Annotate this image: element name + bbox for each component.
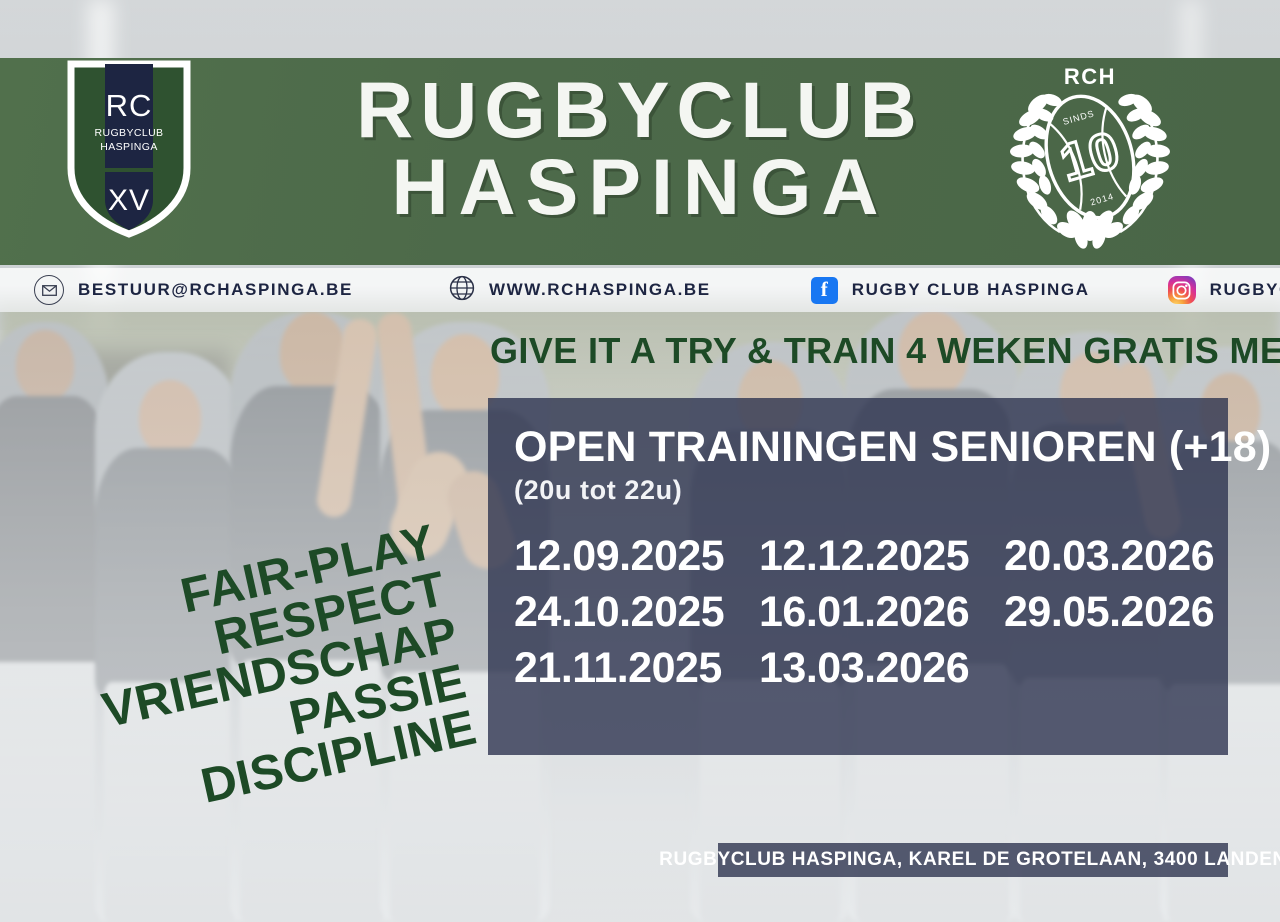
training-date: 29.05.2026 xyxy=(1004,588,1234,636)
contact-facebook-label: RUGBY CLUB HASPINGA xyxy=(852,280,1090,300)
club-shield-logo: RC RUGBYCLUB HASPINGA XV xyxy=(67,60,191,238)
title-line-1: RUGBYCLUB xyxy=(290,72,990,149)
svg-text:RC: RC xyxy=(106,88,153,123)
svg-text:SINDS: SINDS xyxy=(1062,108,1096,127)
training-date: 24.10.2025 xyxy=(514,588,759,636)
svg-text:RCH: RCH xyxy=(1064,64,1116,89)
laurel-anniversary-icon: RCH xyxy=(1000,58,1180,256)
svg-text:HASPINGA: HASPINGA xyxy=(100,141,157,153)
training-date: 12.12.2025 xyxy=(759,532,1004,580)
address-bar: RUGBYCLUB HASPINGA, KAREL DE GROTELAAN, … xyxy=(718,843,1228,877)
address-label: RUGBYCLUB HASPINGA, KAREL DE GROTELAAN, … xyxy=(659,849,1280,871)
training-info-panel: OPEN TRAININGEN SENIOREN (+18) (20u tot … xyxy=(488,398,1228,755)
training-date: 20.03.2026 xyxy=(1004,532,1234,580)
shield-crest-icon: RC RUGBYCLUB HASPINGA XV xyxy=(67,60,191,238)
facebook-icon: f xyxy=(811,277,838,304)
page-title: RUGBYCLUB HASPINGA xyxy=(290,72,990,225)
poster-root: RUGBYCLUB HASPINGA RC RUGBYCLUB HASPINGA… xyxy=(0,0,1280,922)
contact-website-label: WWW.RCHASPINGA.BE xyxy=(489,280,711,300)
instagram-icon xyxy=(1168,276,1196,304)
contact-email[interactable]: BESTUUR@RCHASPINGA.BE xyxy=(34,275,353,305)
contact-facebook[interactable]: f RUGBY CLUB HASPINGA xyxy=(811,277,1090,304)
title-line-2: HASPINGA xyxy=(290,149,990,226)
training-date: 13.03.2026 xyxy=(759,644,1004,692)
svg-text:RUGBYCLUB: RUGBYCLUB xyxy=(95,127,164,139)
training-date: 21.11.2025 xyxy=(514,644,759,692)
anniversary-emblem: RCH xyxy=(1000,58,1180,256)
contact-instagram[interactable]: RUGBYCLUB_HASPINGA xyxy=(1168,276,1280,304)
contact-email-label: BESTUUR@RCHASPINGA.BE xyxy=(78,280,353,300)
training-dates-grid: 12.09.2025 12.12.2025 20.03.2026 24.10.2… xyxy=(514,532,1228,692)
training-date: 16.01.2026 xyxy=(759,588,1004,636)
contact-instagram-label: RUGBYCLUB_HASPINGA xyxy=(1210,280,1280,300)
svg-text:XV: XV xyxy=(108,184,150,217)
contact-bar: BESTUUR@RCHASPINGA.BE WWW.RCHASPINGA.BE … xyxy=(0,268,1280,312)
svg-text:2014: 2014 xyxy=(1089,191,1115,207)
mail-icon xyxy=(34,275,64,305)
panel-title: OPEN TRAININGEN SENIOREN (+18) xyxy=(514,426,1228,469)
training-date: 12.09.2025 xyxy=(514,532,759,580)
tagline: GIVE IT A TRY & TRAIN 4 WEKEN GRATIS MEE xyxy=(490,330,1230,372)
globe-icon xyxy=(449,275,475,306)
contact-website[interactable]: WWW.RCHASPINGA.BE xyxy=(449,275,711,306)
panel-subtitle: (20u tot 22u) xyxy=(514,475,1228,506)
